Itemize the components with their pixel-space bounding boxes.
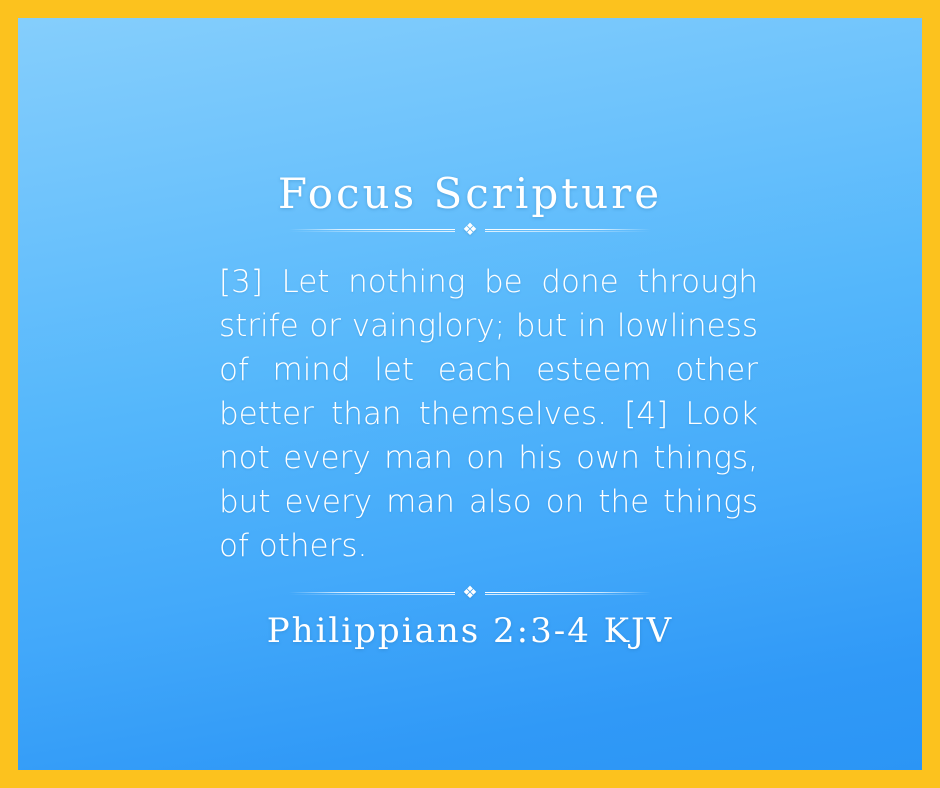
diamond-clover-ornament-icon: ❖ <box>455 585 484 602</box>
divider-bottom: ❖ <box>289 583 651 603</box>
divider-rule-left <box>289 229 455 232</box>
divider-rule-right <box>485 229 651 232</box>
card-content: Focus Scripture ❖ [3] Let nothing be don… <box>18 18 922 770</box>
page-title: Focus Scripture <box>18 170 922 218</box>
scripture-text: [3] Let nothing be done through strife o… <box>219 260 758 568</box>
divider-rule-left <box>289 592 455 595</box>
scripture-card: Focus Scripture ❖ [3] Let nothing be don… <box>18 18 922 770</box>
scripture-citation: Philippians 2:3-4 KJV <box>18 610 922 652</box>
diamond-clover-ornament-icon: ❖ <box>455 222 484 239</box>
divider-top: ❖ <box>289 220 651 240</box>
divider-rule-right <box>485 592 651 595</box>
scripture-card-canvas: Focus Scripture ❖ [3] Let nothing be don… <box>0 0 940 788</box>
